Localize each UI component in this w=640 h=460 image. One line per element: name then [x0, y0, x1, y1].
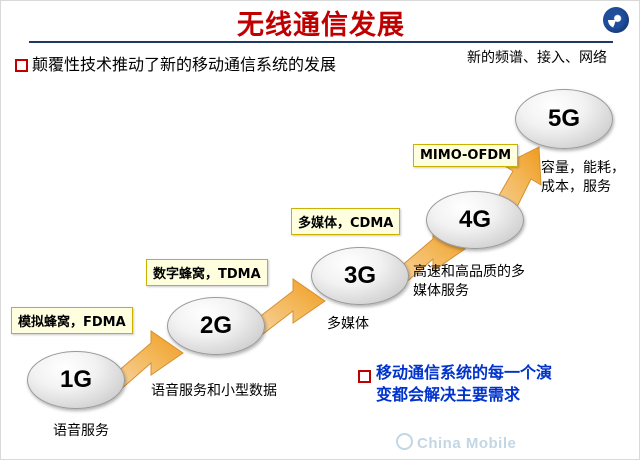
note-high-speed-multimedia: 高速和高品质的多 媒体服务 [413, 263, 525, 301]
note-capacity-energy-cost-service: 容量，能耗， 成本，服务 [541, 159, 625, 197]
square-bullet-icon [358, 370, 371, 383]
bullet-text-bottom: 移动通信系统的每一个演 变都会解决主要需求 [376, 362, 552, 406]
bullet-text-top: 颠覆性技术推动了新的移动通信系统的发展 [32, 51, 336, 75]
tech-tag-tdma: 数字蜂窝，TDMA [146, 259, 268, 286]
generation-node-4g[interactable]: 4G [426, 191, 524, 249]
watermark: China Mobile [396, 433, 516, 452]
note-voice-and-small-data: 语音服务和小型数据 [151, 382, 277, 401]
node-label: 5G [548, 105, 580, 133]
watermark-text: China Mobile [417, 435, 516, 452]
node-label: 4G [459, 206, 491, 234]
tech-tag-cdma: 多媒体，CDMA [291, 208, 400, 235]
watermark-logo-icon [396, 433, 413, 450]
tech-tag-fdma: 模拟蜂窝，FDMA [11, 307, 133, 334]
tech-tag-mimo-ofdm: MIMO-OFDM [413, 144, 518, 167]
note-voice-service: 语音服务 [53, 422, 109, 441]
generation-node-3g[interactable]: 3G [311, 247, 409, 305]
node-label: 1G [60, 366, 92, 394]
node-label: 3G [344, 262, 376, 290]
logo-swirl-icon [608, 12, 624, 28]
slide-canvas: 无线通信发展 1G 2G 3G 4G 5G [0, 0, 640, 460]
page-title: 无线通信发展 [1, 3, 640, 42]
note-new-spectrum-access-network: 新的频谱、接入、网络 [467, 49, 607, 68]
generation-node-2g[interactable]: 2G [167, 297, 265, 355]
generation-node-1g[interactable]: 1G [27, 351, 125, 409]
square-bullet-icon [15, 59, 28, 72]
china-mobile-logo-icon [603, 7, 629, 33]
title-divider [29, 41, 613, 43]
generation-node-5g[interactable]: 5G [515, 89, 613, 149]
title-bar: 无线通信发展 [1, 1, 640, 43]
node-label: 2G [200, 312, 232, 340]
note-multimedia: 多媒体 [327, 315, 369, 334]
